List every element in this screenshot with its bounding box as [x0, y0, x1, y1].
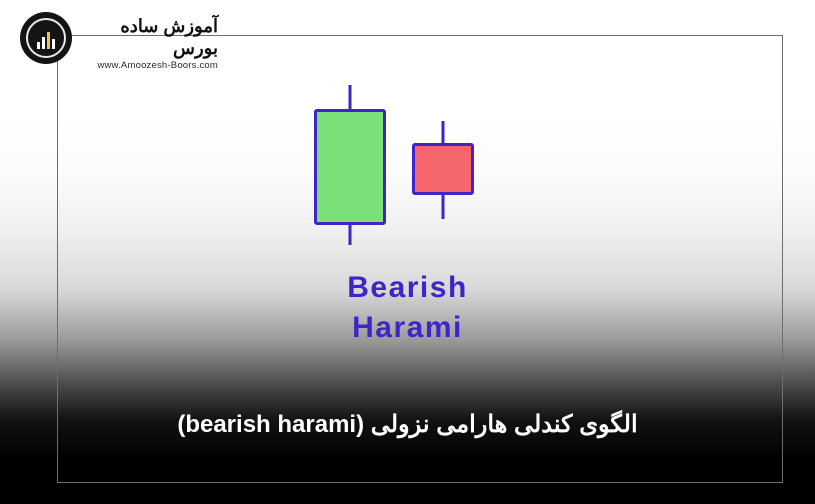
brand-website: www.Amoozesh-Boors.com [78, 59, 218, 73]
bullish-candle [314, 85, 386, 245]
candlestick-diagram [300, 85, 530, 265]
bearish-candle-body [412, 143, 474, 195]
bullish-candle-body [314, 109, 386, 225]
pattern-caption: Bearish Harami [0, 268, 815, 348]
poster-canvas: آموزش ساده بورس www.Amoozesh-Boors.com B… [0, 0, 815, 504]
page-title: الگوی کندلی هارامی نزولی (bearish harami… [0, 410, 815, 439]
page-title-fa: الگوی کندلی هارامی نزولی ( [356, 411, 638, 438]
bearish-candle [412, 121, 474, 219]
chart-bars-circle-logo-icon [20, 12, 72, 64]
brand-name-fa: آموزش ساده بورس [78, 15, 218, 59]
brand-logo: آموزش ساده بورس www.Amoozesh-Boors.com [20, 8, 220, 70]
pattern-caption-line1: Bearish [347, 271, 468, 304]
pattern-caption-line2: Harami [0, 308, 815, 348]
page-title-latin: bearish harami [185, 411, 356, 438]
